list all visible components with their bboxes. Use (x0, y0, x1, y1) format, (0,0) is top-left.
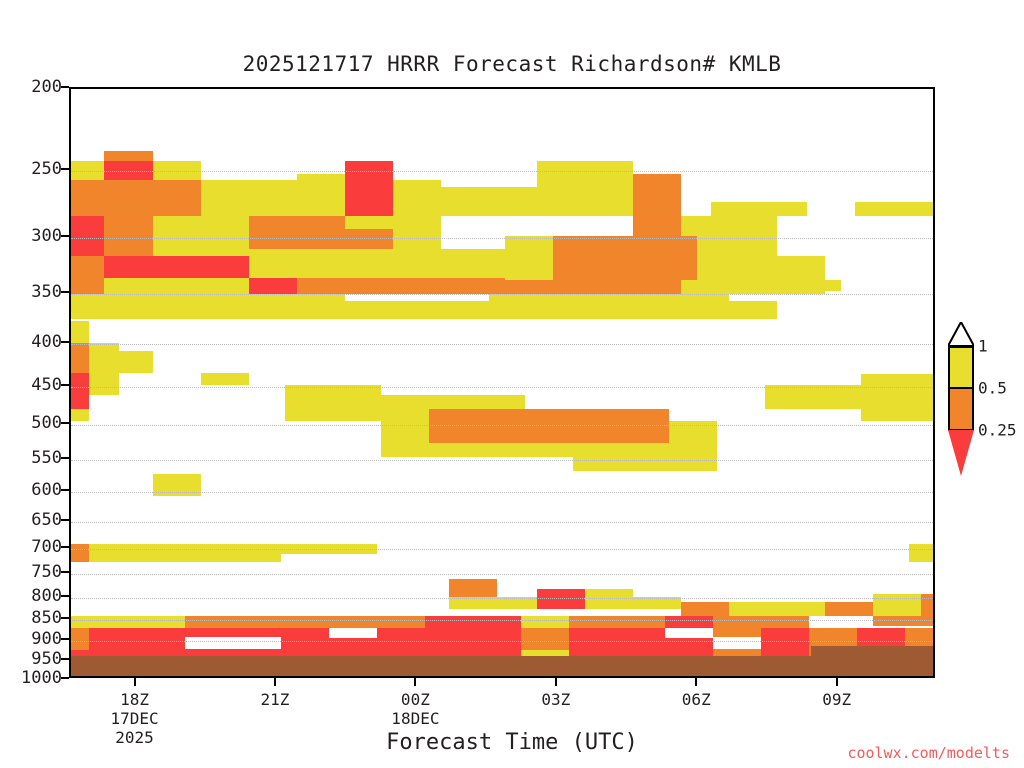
colorbar-segment (948, 346, 974, 388)
x-tick-label: 06Z (682, 690, 711, 709)
colorbar-top-arrow-outline (948, 322, 974, 346)
y-tick-label: 500 (4, 413, 62, 433)
x-tick-label-line: 06Z (682, 690, 711, 709)
x-tick-label-line: 17DEC (110, 709, 158, 728)
x-tick-label: 03Z (541, 690, 570, 709)
y-tick-label: 750 (4, 562, 62, 582)
y-tick-mark (61, 168, 69, 170)
colorbar-tick-label: 1 (978, 337, 988, 356)
forecast-cross-section-figure: 2025121717 HRRR Forecast Richardson# KML… (0, 0, 1024, 768)
x-tick-mark (134, 678, 136, 686)
y-tick-label: 200 (4, 77, 62, 97)
colorbar-tick-label: 0.25 (978, 421, 1017, 440)
y-tick-mark (61, 546, 69, 548)
colorbar-segment (948, 388, 974, 430)
x-tick-label: 21Z (261, 690, 290, 709)
x-tick-mark (274, 678, 276, 686)
y-tick-label: 400 (4, 332, 62, 352)
y-tick-label: 1000 (4, 668, 62, 688)
y-tick-mark (61, 341, 69, 343)
y-tick-label: 850 (4, 608, 62, 628)
x-tick-label: 00Z18DEC (391, 690, 439, 728)
y-tick-label: 350 (4, 282, 62, 302)
x-tick-label-line: 00Z (391, 690, 439, 709)
y-tick-mark (61, 677, 69, 679)
y-axis: 2002503003504004505005506006507007508008… (0, 0, 1024, 768)
x-tick-mark (695, 678, 697, 686)
y-tick-mark (61, 457, 69, 459)
x-tick-label-line: 18Z (110, 690, 158, 709)
watermark-link[interactable]: coolwx.com/modelts (847, 744, 1010, 762)
y-tick-mark (61, 489, 69, 491)
y-tick-label: 800 (4, 586, 62, 606)
y-tick-mark (61, 617, 69, 619)
y-tick-mark (61, 291, 69, 293)
y-tick-label: 600 (4, 480, 62, 500)
y-tick-mark (61, 595, 69, 597)
y-tick-mark (61, 422, 69, 424)
y-tick-mark (61, 571, 69, 573)
y-tick-label: 700 (4, 537, 62, 557)
colorbar-boundary-line (948, 346, 974, 348)
x-tick-label-line: 09Z (822, 690, 851, 709)
y-tick-label: 900 (4, 629, 62, 649)
colorbar-tick-label: 0.5 (978, 379, 1007, 398)
y-tick-mark (61, 638, 69, 640)
colorbar-boundary-line (948, 387, 974, 389)
y-tick-label: 300 (4, 226, 62, 246)
y-tick-mark (61, 519, 69, 521)
y-tick-mark (61, 235, 69, 237)
x-tick-label-line: 18DEC (391, 709, 439, 728)
y-tick-label: 450 (4, 375, 62, 395)
y-tick-mark (61, 384, 69, 386)
y-tick-mark (61, 86, 69, 88)
x-tick-mark (555, 678, 557, 686)
x-tick-mark (414, 678, 416, 686)
x-tick-label: 09Z (822, 690, 851, 709)
y-tick-label: 550 (4, 448, 62, 468)
y-tick-label: 250 (4, 159, 62, 179)
y-tick-label: 650 (4, 510, 62, 530)
y-tick-label: 950 (4, 649, 62, 669)
colorbar-bottom-arrow (948, 430, 974, 476)
x-tick-label-line: 21Z (261, 690, 290, 709)
y-tick-mark (61, 658, 69, 660)
x-tick-mark (836, 678, 838, 686)
x-tick-label-line: 03Z (541, 690, 570, 709)
